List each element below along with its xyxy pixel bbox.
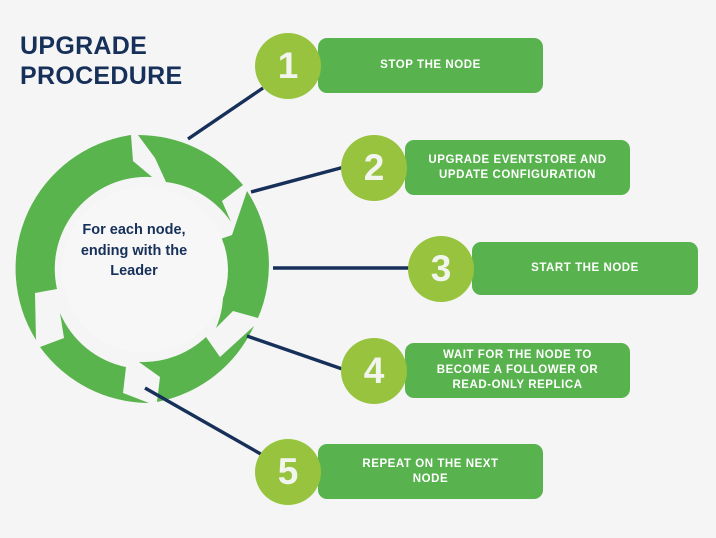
step-4-number: 4: [364, 352, 385, 389]
step-2-label: UPGRADE EVENTSTORE AND UPDATE CONFIGURAT…: [418, 153, 616, 182]
step-1-badge[interactable]: 1: [255, 33, 321, 99]
connector-line-4: [247, 336, 348, 371]
step-5-label: REPEAT ON THE NEXT NODE: [352, 457, 508, 486]
step-5-number: 5: [278, 453, 299, 490]
step-4-label: WAIT FOR THE NODE TO BECOME A FOLLOWER O…: [427, 348, 609, 392]
connector-line-5: [145, 388, 266, 457]
step-1-number: 1: [278, 47, 299, 84]
step-4-bar[interactable]: WAIT FOR THE NODE TO BECOME A FOLLOWER O…: [405, 343, 630, 398]
step-3-label: START THE NODE: [521, 261, 649, 276]
step-4-badge[interactable]: 4: [341, 338, 407, 404]
step-1-label: STOP THE NODE: [370, 58, 491, 73]
step-3-bar[interactable]: START THE NODE: [472, 242, 698, 295]
connector-line-2: [251, 166, 348, 192]
step-2-bar[interactable]: UPGRADE EVENTSTORE AND UPDATE CONFIGURAT…: [405, 140, 630, 195]
step-3-number: 3: [431, 250, 452, 287]
step-5-badge[interactable]: 5: [255, 439, 321, 505]
step-2-badge[interactable]: 2: [341, 135, 407, 201]
step-3-badge[interactable]: 3: [408, 236, 474, 302]
connector-line-1: [188, 88, 263, 139]
step-5-bar[interactable]: REPEAT ON THE NEXT NODE: [318, 444, 543, 499]
step-2-number: 2: [364, 149, 385, 186]
step-1-bar[interactable]: STOP THE NODE: [318, 38, 543, 93]
infographic-canvas: UPGRADE PROCEDURE For each node, ending …: [0, 0, 716, 538]
